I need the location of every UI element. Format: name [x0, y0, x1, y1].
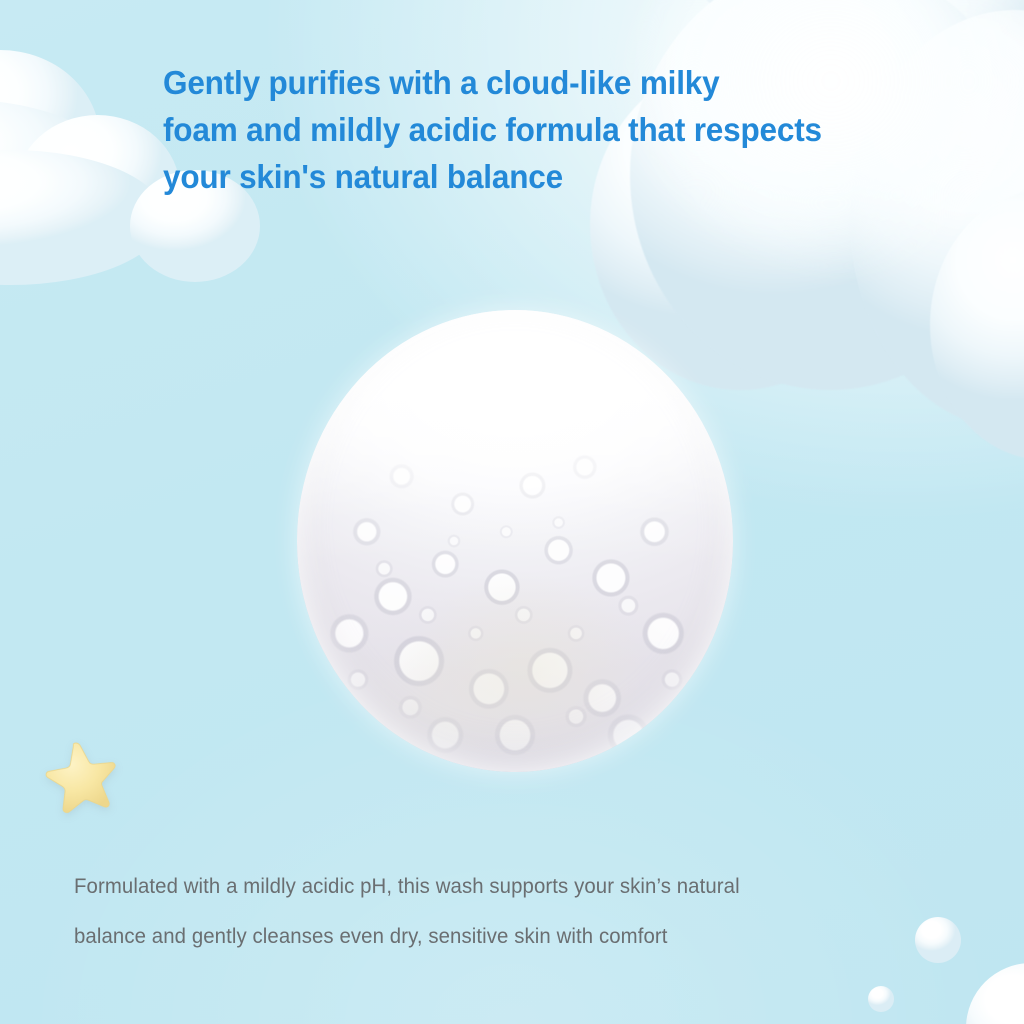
headline-text: Gently purifies with a cloud-like milky … — [163, 59, 832, 200]
foam-bubble-texture-fine — [297, 310, 733, 772]
foam-bubble-small — [868, 986, 894, 1012]
body-text: Formulated with a mildly acidic pH, this… — [74, 862, 879, 962]
yellow-star-icon — [33, 731, 128, 826]
foam-bubble-medium — [915, 917, 961, 963]
milky-foam-circle — [297, 310, 733, 772]
promo-banner: Gently purifies with a cloud-like milky … — [0, 0, 1024, 1024]
